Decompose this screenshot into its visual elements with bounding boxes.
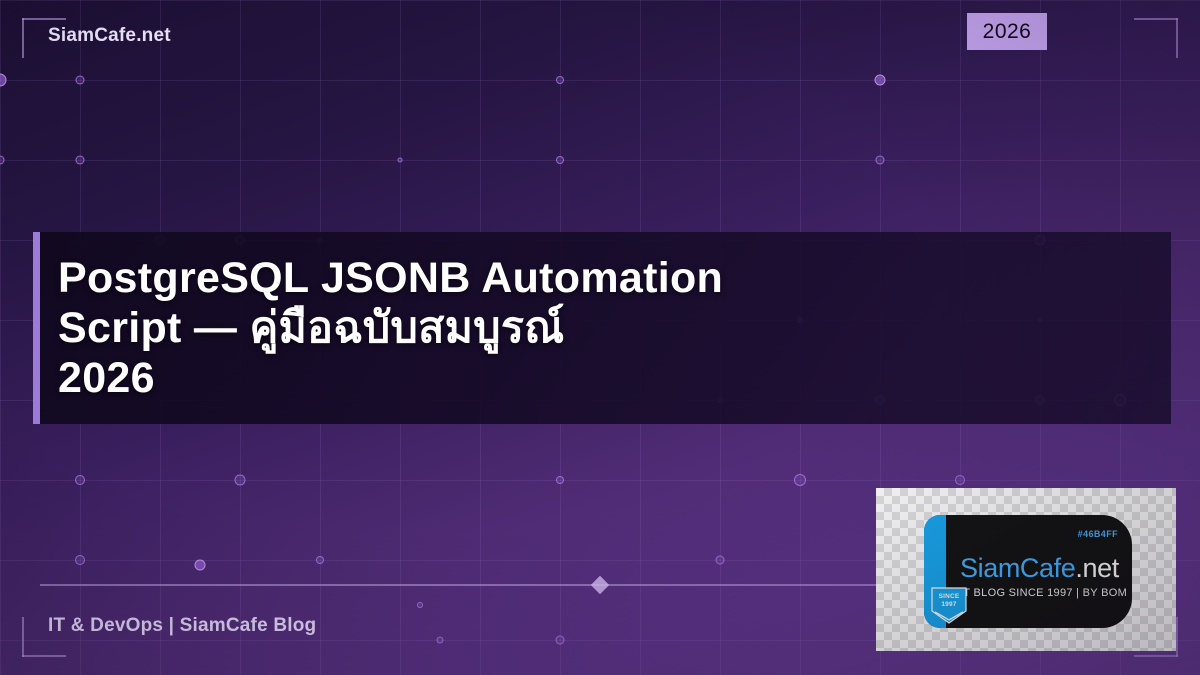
grid-node-dot [76, 156, 85, 165]
grid-node-dot [556, 476, 564, 484]
title-band: PostgreSQL JSONB Automation Script — คู่… [33, 232, 1171, 424]
diamond-marker-icon [591, 576, 609, 594]
grid-node-dot [875, 75, 886, 86]
corner-bracket-top-right [1134, 18, 1178, 58]
grid-node-dot [955, 475, 965, 485]
year-badge-label: 2026 [983, 20, 1032, 44]
footer-caption: IT & DevOps | SiamCafe Blog [48, 615, 316, 637]
grid-node-dot [556, 636, 565, 645]
grid-node-dot [316, 556, 324, 564]
banner-stage: SiamCafe.net 2026 PostgreSQL JSONB Autom… [0, 0, 1200, 675]
grid-node-dot [716, 556, 725, 565]
logo-tagline: IT BLOG SINCE 1997 | BY BOM [960, 587, 1127, 599]
grid-node-dot [556, 76, 564, 84]
grid-node-dot [0, 74, 7, 87]
since-shield-icon: SINCE 1997 [931, 587, 967, 625]
page-title: PostgreSQL JSONB Automation Script — คู่… [33, 253, 743, 404]
grid-node-dot [75, 555, 85, 565]
logo-card: #46B4FF SiamCafe.net IT BLOG SINCE 1997 … [876, 488, 1176, 651]
logo-wordmark-primary: SiamCafe [960, 553, 1075, 583]
grid-node-dot [556, 156, 564, 164]
since-shield-line2: 1997 [931, 601, 967, 609]
year-badge: 2026 [967, 13, 1047, 50]
grid-node-dot [876, 156, 885, 165]
grid-node-dot [398, 158, 403, 163]
brand-name: SiamCafe.net [48, 25, 171, 47]
grid-node-dot [794, 474, 806, 486]
grid-node-dot [195, 560, 206, 571]
grid-node-dot [76, 76, 85, 85]
logo-badge: #46B4FF SiamCafe.net IT BLOG SINCE 1997 … [924, 515, 1132, 628]
grid-node-dot [75, 475, 85, 485]
logo-wordmark: SiamCafe.net [960, 553, 1119, 584]
grid-node-dot [417, 602, 423, 608]
grid-node-dot [235, 475, 246, 486]
since-shield-text: SINCE 1997 [931, 593, 967, 609]
logo-hex-label: #46B4FF [1078, 529, 1118, 539]
since-shield-line1: SINCE [931, 593, 967, 601]
title-accent-bar [33, 232, 40, 424]
grid-node-dot [0, 156, 5, 165]
grid-node-dot [437, 637, 444, 644]
logo-wordmark-suffix: .net [1075, 553, 1118, 583]
